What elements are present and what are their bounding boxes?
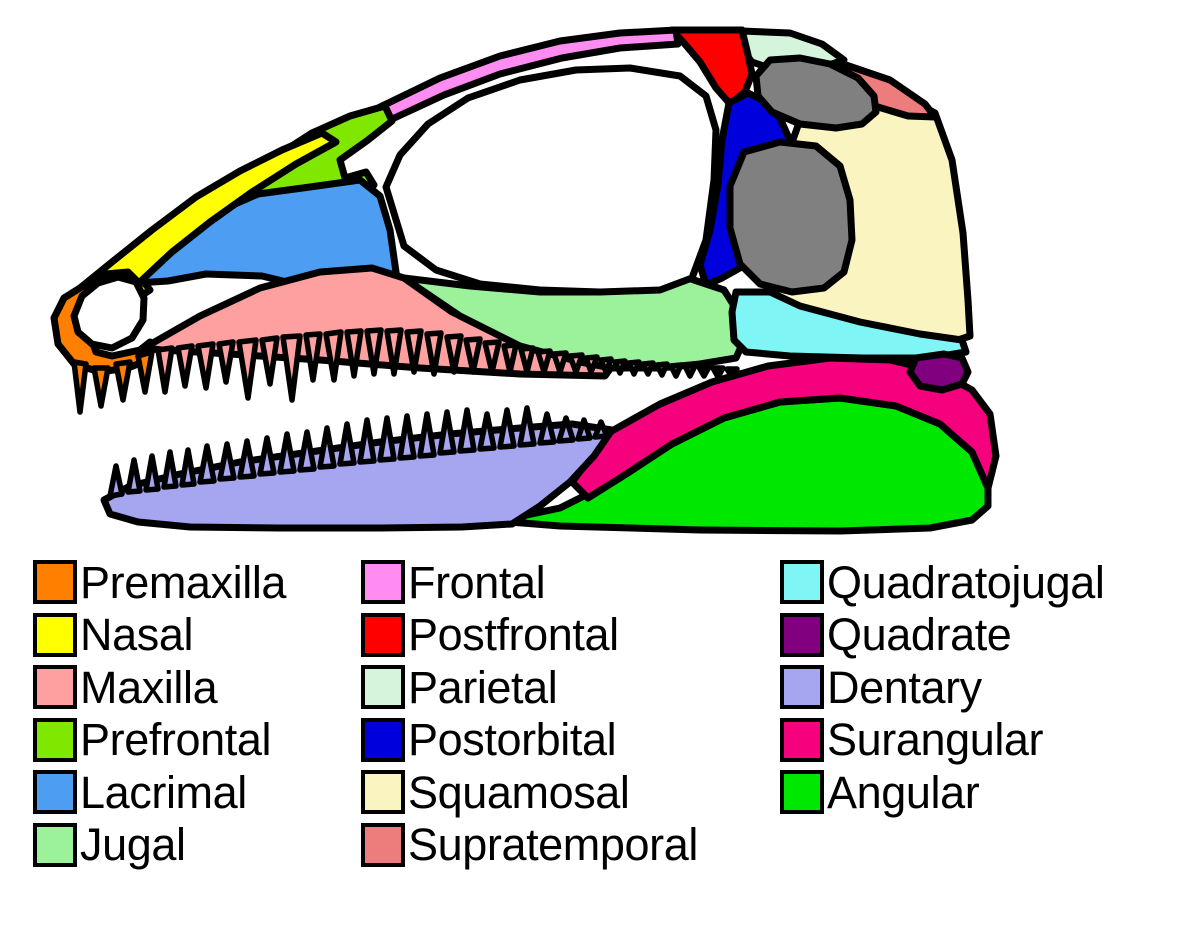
legend-label-prefrontal: Prefrontal <box>80 717 271 762</box>
legend-swatch-maxilla <box>33 665 77 709</box>
legend-label-angular: Angular <box>827 770 979 815</box>
legend-swatch-frontal <box>361 560 405 604</box>
skull-diagram-page: PremaxillaNasalMaxillaPrefrontalLacrimal… <box>0 0 1199 939</box>
legend-swatch-surangular <box>780 718 824 762</box>
legend-label-postfrontal: Postfrontal <box>408 612 619 657</box>
legend-label-surangular: Surangular <box>827 717 1043 762</box>
legend-row[interactable]: Quadrate <box>780 609 1199 662</box>
legend-swatch-quadratojugal <box>780 560 824 604</box>
legend-label-quadratojugal: Quadratojugal <box>827 560 1105 605</box>
legend-row[interactable]: Parietal <box>361 661 781 714</box>
legend-label-lacrimal: Lacrimal <box>80 770 247 815</box>
legend-swatch-quadrate <box>780 613 824 657</box>
legend-row[interactable]: Nasal <box>33 609 363 662</box>
legend-row[interactable]: Postorbital <box>361 714 781 767</box>
legend-row[interactable]: Dentary <box>780 661 1199 714</box>
legend: PremaxillaNasalMaxillaPrefrontalLacrimal… <box>0 556 1199 939</box>
legend-swatch-postfrontal <box>361 613 405 657</box>
legend-label-postorbital: Postorbital <box>408 717 616 762</box>
infratemporal-fenestra <box>730 142 852 292</box>
legend-column-3: QuadratojugalQuadrateDentarySurangularAn… <box>780 556 1199 819</box>
legend-label-dentary: Dentary <box>827 665 982 710</box>
legend-swatch-premaxilla <box>33 560 77 604</box>
legend-column-1: PremaxillaNasalMaxillaPrefrontalLacrimal… <box>33 556 363 871</box>
legend-row[interactable]: Quadratojugal <box>780 556 1199 609</box>
legend-label-parietal: Parietal <box>408 665 557 710</box>
legend-label-premaxilla: Premaxilla <box>80 560 286 605</box>
legend-swatch-lacrimal <box>33 770 77 814</box>
legend-label-maxilla: Maxilla <box>80 665 217 710</box>
legend-label-frontal: Frontal <box>408 560 545 605</box>
legend-label-nasal: Nasal <box>80 612 193 657</box>
legend-swatch-squamosal <box>361 770 405 814</box>
legend-swatch-dentary <box>780 665 824 709</box>
legend-row[interactable]: Lacrimal <box>33 766 363 819</box>
legend-row[interactable]: Postfrontal <box>361 609 781 662</box>
legend-row[interactable]: Frontal <box>361 556 781 609</box>
legend-swatch-postorbital <box>361 718 405 762</box>
legend-column-2: FrontalPostfrontalParietalPostorbitalSqu… <box>361 556 781 871</box>
legend-row[interactable]: Prefrontal <box>33 714 363 767</box>
legend-label-quadrate: Quadrate <box>827 612 1011 657</box>
skull-figure <box>0 0 1199 556</box>
legend-label-squamosal: Squamosal <box>408 770 630 815</box>
legend-swatch-jugal <box>33 823 77 867</box>
legend-row[interactable]: Squamosal <box>361 766 781 819</box>
legend-row[interactable]: Supratemporal <box>361 819 781 872</box>
legend-row[interactable]: Jugal <box>33 819 363 872</box>
legend-label-supratemporal: Supratemporal <box>408 822 698 867</box>
legend-row[interactable]: Maxilla <box>33 661 363 714</box>
legend-label-jugal: Jugal <box>80 822 186 867</box>
legend-swatch-parietal <box>361 665 405 709</box>
legend-swatch-nasal <box>33 613 77 657</box>
legend-swatch-supratemporal <box>361 823 405 867</box>
legend-swatch-angular <box>780 770 824 814</box>
legend-swatch-prefrontal <box>33 718 77 762</box>
skull-lateral-view <box>0 0 1199 556</box>
legend-row[interactable]: Angular <box>780 766 1199 819</box>
skull-region-quadrate <box>910 354 968 390</box>
legend-row[interactable]: Premaxilla <box>33 556 363 609</box>
legend-row[interactable]: Surangular <box>780 714 1199 767</box>
